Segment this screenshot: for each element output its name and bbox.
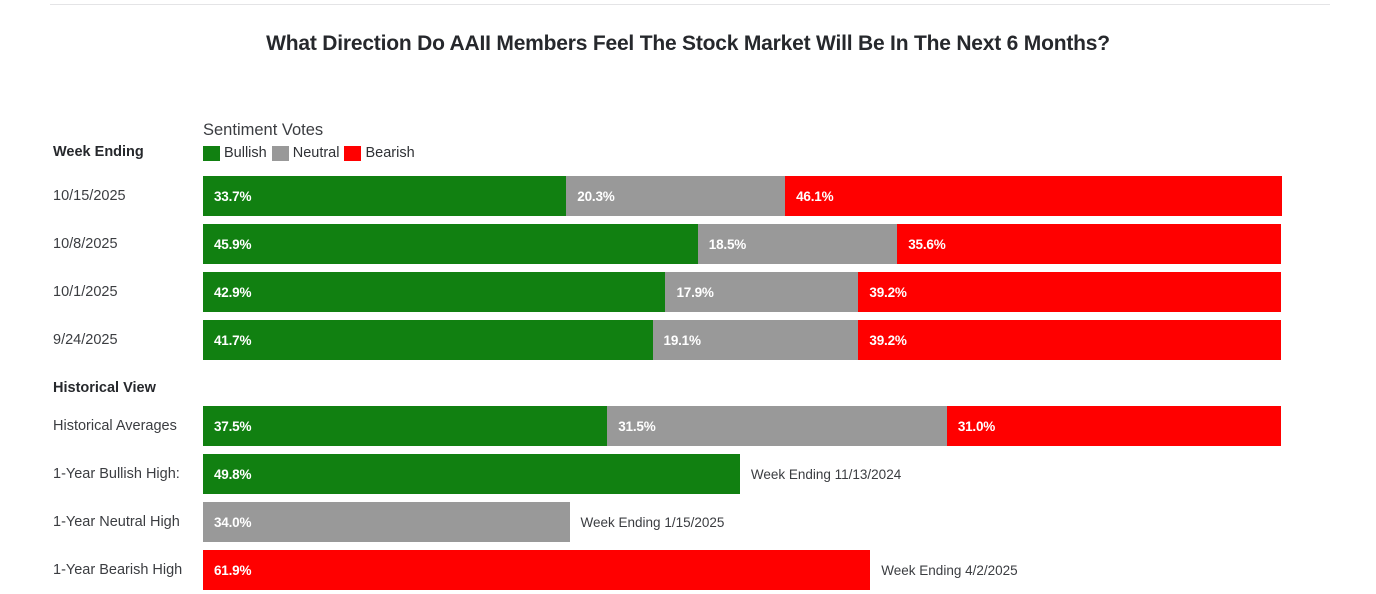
annotation-neutral-high: Week Ending 1/15/2025 xyxy=(570,502,725,542)
page-title: What Direction Do AAII Members Feel The … xyxy=(0,32,1376,56)
bar-segment-bearish[interactable]: 39.2% xyxy=(858,272,1281,312)
top-divider xyxy=(50,4,1330,5)
bar-value-bearish: 39.2% xyxy=(858,285,906,300)
bar-segment-neutral[interactable]: 20.3% xyxy=(566,176,785,216)
legend-item-bullish[interactable]: Bullish xyxy=(203,145,267,161)
bar-value-bullish: 45.9% xyxy=(203,237,251,252)
legend-title: Sentiment Votes xyxy=(203,121,420,140)
bar-value-bullish: 33.7% xyxy=(203,189,251,204)
bar-value-bullish: 37.5% xyxy=(203,419,251,434)
legend-label-bearish: Bearish xyxy=(365,145,414,161)
bar-segment-bullish[interactable]: 45.9% xyxy=(203,224,698,264)
legend-items: Bullish Neutral Bearish xyxy=(203,145,420,161)
bar-value-bearish: 35.6% xyxy=(897,237,945,252)
bar-segment-bearish[interactable]: 46.1% xyxy=(785,176,1282,216)
table-row: 42.9% 17.9% 39.2% xyxy=(203,272,1281,312)
bar-segment-neutral-high[interactable]: 34.0% xyxy=(203,502,570,542)
table-row: 34.0% Week Ending 1/15/2025 xyxy=(203,502,1281,542)
row-label-neutral-high: 1-Year Neutral High xyxy=(53,512,180,532)
table-row: 45.9% 18.5% 35.6% xyxy=(203,224,1281,264)
bar-segment-bullish[interactable]: 41.7% xyxy=(203,320,653,360)
row-label-bearish-high: 1-Year Bearish High xyxy=(53,560,182,580)
legend-item-neutral[interactable]: Neutral xyxy=(272,145,340,161)
table-row: 37.5% 31.5% 31.0% xyxy=(203,406,1281,446)
legend-label-neutral: Neutral xyxy=(293,145,340,161)
row-label-week-0: 10/15/2025 xyxy=(53,186,126,206)
bar-segment-bearish[interactable]: 31.0% xyxy=(947,406,1281,446)
bar-value-bearish-high: 61.9% xyxy=(203,563,251,578)
bar-value-neutral: 19.1% xyxy=(653,333,701,348)
bar-value-neutral-high: 34.0% xyxy=(203,515,251,530)
bar-segment-bearish[interactable]: 35.6% xyxy=(897,224,1281,264)
annotation-bullish-high: Week Ending 11/13/2024 xyxy=(740,454,901,494)
bar-segment-bullish-high[interactable]: 49.8% xyxy=(203,454,740,494)
table-row: 41.7% 19.1% 39.2% xyxy=(203,320,1281,360)
legend-item-bearish[interactable]: Bearish xyxy=(344,145,414,161)
bar-value-bearish: 46.1% xyxy=(785,189,833,204)
neutral-swatch-icon xyxy=(272,146,289,161)
bar-value-bearish: 39.2% xyxy=(858,333,906,348)
row-label-week-3: 9/24/2025 xyxy=(53,330,118,350)
bar-value-bullish-high: 49.8% xyxy=(203,467,251,482)
table-row: 61.9% Week Ending 4/2/2025 xyxy=(203,550,1281,590)
row-label-bullish-high: 1-Year Bullish High: xyxy=(53,464,180,484)
table-row: 33.7% 20.3% 46.1% xyxy=(203,176,1281,216)
bar-segment-neutral[interactable]: 31.5% xyxy=(607,406,947,446)
annotation-bearish-high: Week Ending 4/2/2025 xyxy=(870,550,1017,590)
bullish-swatch-icon xyxy=(203,146,220,161)
bar-segment-neutral[interactable]: 19.1% xyxy=(653,320,859,360)
bar-segment-bearish-high[interactable]: 61.9% xyxy=(203,550,870,590)
bar-value-neutral: 31.5% xyxy=(607,419,655,434)
table-row: 49.8% Week Ending 11/13/2024 xyxy=(203,454,1281,494)
bar-value-neutral: 18.5% xyxy=(698,237,746,252)
bar-segment-bullish[interactable]: 33.7% xyxy=(203,176,566,216)
bar-segment-bullish[interactable]: 42.9% xyxy=(203,272,665,312)
row-label-week-1: 10/8/2025 xyxy=(53,234,118,254)
row-label-week-2: 10/1/2025 xyxy=(53,282,118,302)
bar-segment-neutral[interactable]: 18.5% xyxy=(698,224,897,264)
bearish-swatch-icon xyxy=(344,146,361,161)
bar-value-neutral: 20.3% xyxy=(566,189,614,204)
bar-segment-bearish[interactable]: 39.2% xyxy=(858,320,1281,360)
chart-root: What Direction Do AAII Members Feel The … xyxy=(0,0,1376,594)
section-header-week-ending: Week Ending xyxy=(53,144,144,160)
section-header-historical-view: Historical View xyxy=(53,380,156,396)
bar-value-bearish: 31.0% xyxy=(947,419,995,434)
legend: Sentiment Votes Bullish Neutral Bearish xyxy=(203,121,420,161)
legend-label-bullish: Bullish xyxy=(224,145,267,161)
bar-value-neutral: 17.9% xyxy=(665,285,713,300)
bar-segment-bullish[interactable]: 37.5% xyxy=(203,406,607,446)
bar-segment-neutral[interactable]: 17.9% xyxy=(665,272,858,312)
row-label-historical-averages: Historical Averages xyxy=(53,416,177,436)
bar-value-bullish: 41.7% xyxy=(203,333,251,348)
bar-value-bullish: 42.9% xyxy=(203,285,251,300)
